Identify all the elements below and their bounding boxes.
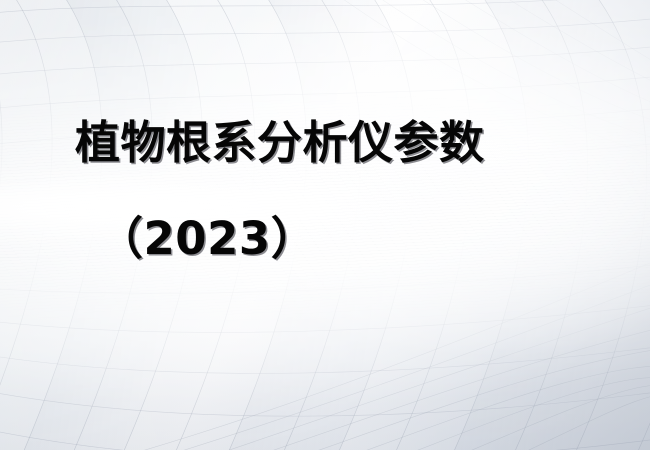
slide-title-year: （2023）: [0, 170, 650, 266]
title-block: 植物根系分析仪参数 （2023）: [0, 116, 650, 266]
mesh-diagonal-lines: [76, 242, 650, 450]
slide-title-primary: 植物根系分析仪参数: [0, 116, 650, 170]
title-slide: 植物根系分析仪参数 （2023）: [0, 0, 650, 450]
